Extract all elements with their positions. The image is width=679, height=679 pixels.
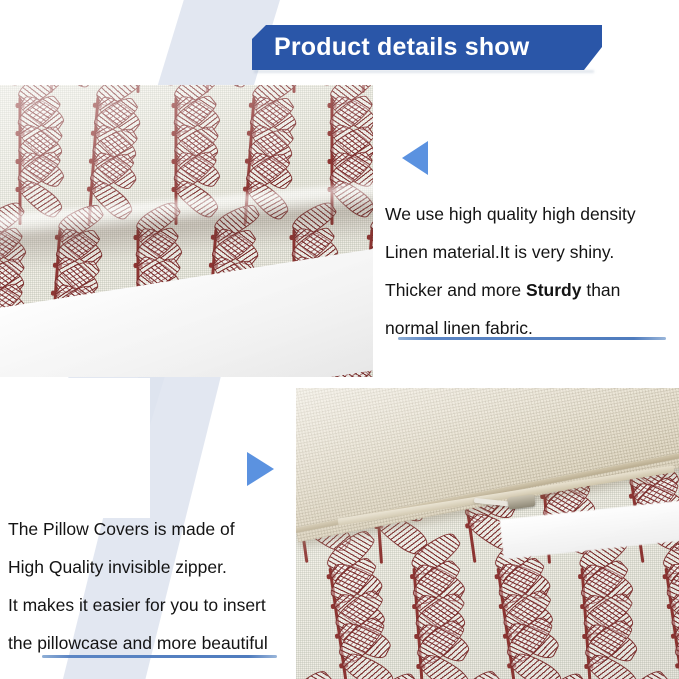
band-mask-lower [0, 378, 150, 518]
zipper-description: The Pillow Covers is made of High Qualit… [8, 510, 268, 662]
right-triangle-icon [247, 452, 274, 486]
banner-title: Product details show [274, 33, 529, 62]
zipper-line-2: High Quality invisible zipper. [8, 548, 268, 586]
linen-sheen [0, 85, 373, 377]
material-line-3-emphasis: Sturdy [526, 280, 581, 300]
zipper-line-1: The Pillow Covers is made of [8, 510, 268, 548]
material-divider [398, 337, 666, 340]
zipper-divider [42, 655, 277, 658]
zipper-line-3: It makes it easier for you to insert [8, 586, 268, 624]
banner-shadow [254, 70, 594, 73]
material-line-3-after: than [581, 280, 620, 300]
material-line-1: We use high quality high density [385, 195, 636, 233]
left-triangle-icon [402, 141, 428, 175]
material-line-3-before: Thicker and more [385, 280, 526, 300]
material-line-2: Linen material.It is very shiny. [385, 233, 636, 271]
photo-zipper-closeup [296, 388, 679, 679]
material-line-3: Thicker and more Sturdy than [385, 271, 636, 309]
product-detail-page: Product details show We use high quality… [0, 0, 679, 679]
linen-sheen-2 [296, 388, 679, 679]
header-banner: Product details show [252, 25, 602, 70]
material-line-4: normal linen fabric. [385, 309, 636, 347]
photo-folded-fabric [0, 85, 373, 377]
material-description: We use high quality high density Linen m… [385, 195, 636, 347]
